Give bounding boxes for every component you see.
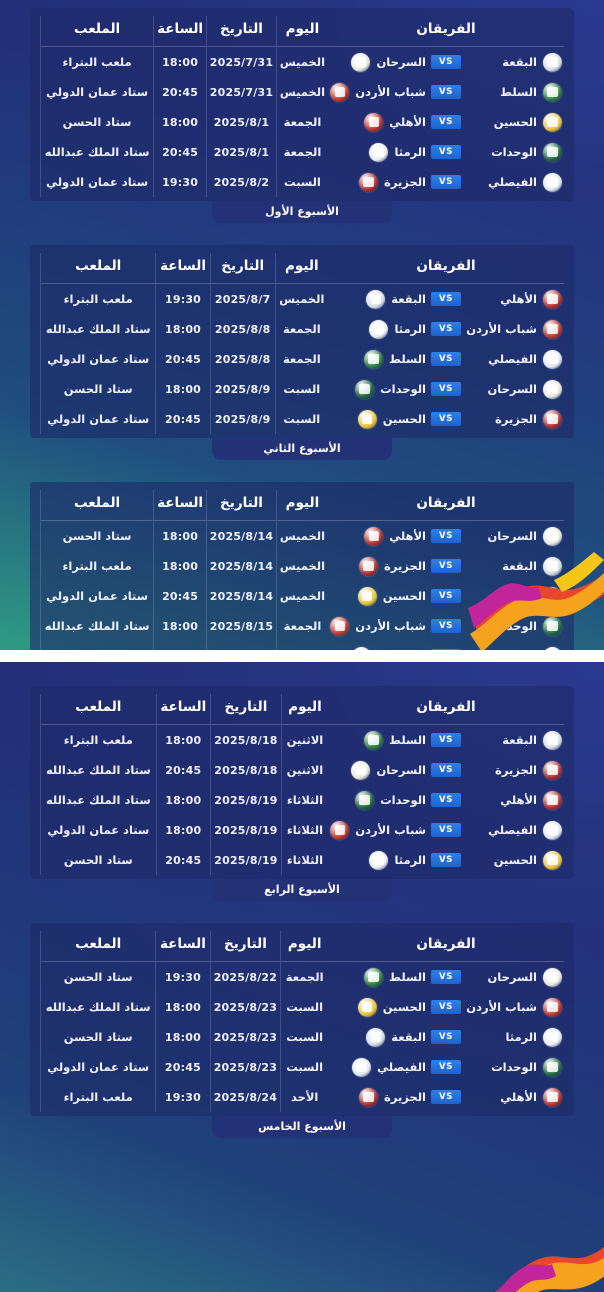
home-team-name: شباب الأردن — [466, 322, 537, 336]
match-cell[interactable]: السلطVSالحسين — [328, 581, 564, 611]
home-team[interactable]: الحسين — [466, 851, 562, 870]
home-team-name: الأهلي — [500, 793, 537, 807]
vs-badge: VS — [431, 1060, 461, 1074]
match-date-cell: 2025/8/19 — [210, 845, 281, 875]
vs-badge: VS — [431, 1090, 461, 1104]
table-row[interactable]: الفيصليVSالجزيرةالسبت2025/8/219:30ستاد ع… — [41, 167, 565, 197]
match-stadium-cell: ستاد الملك عبدالله — [41, 611, 154, 641]
team-crest-icon — [330, 617, 349, 636]
match-time-cell: 19:30 — [156, 1082, 210, 1112]
away-team-name: شباب الأردن — [355, 823, 426, 837]
match-stadium-cell: ستاد عمان الدولي — [41, 815, 157, 845]
table-row[interactable]: شباب الأردنVSالرمثاالجمعة2025/8/818:00ست… — [41, 314, 565, 344]
vs-badge: VS — [431, 619, 461, 633]
home-team-name: الأهلي — [500, 292, 537, 306]
match-cell[interactable]: السلطVSشباب الأردن — [328, 77, 564, 107]
team-crest-icon — [543, 320, 562, 339]
column-header-time: الساعة — [154, 490, 207, 521]
away-team[interactable]: الحسين — [330, 998, 426, 1017]
match-cell[interactable]: البقعةVSالجزيرة — [328, 551, 564, 581]
home-team[interactable]: الأهلي — [466, 791, 562, 810]
away-team-name: الوحدات — [380, 382, 426, 396]
match-pairing: الحسينVSالرمثا — [330, 851, 562, 870]
column-header-teams: الفريقان — [328, 253, 564, 284]
match-day-cell: الاثنين — [281, 725, 328, 756]
away-team-name: الوحدات — [380, 793, 426, 807]
match-date-cell: 2025/8/14 — [207, 551, 277, 581]
match-pairing: السرحانVSالسلط — [330, 968, 562, 987]
match-stadium-cell: ملعب البتراء — [41, 551, 154, 581]
match-pairing: الجزيرةVSالحسين — [330, 410, 562, 429]
match-pairing: السرحانVSالأهلي — [330, 527, 562, 546]
match-cell[interactable]: الأهليVSالجزيرة — [328, 1082, 564, 1112]
away-team[interactable]: الرمثا — [330, 320, 426, 339]
match-time-cell: 20:45 — [154, 581, 207, 611]
match-day-cell: السبت — [276, 167, 328, 197]
match-stadium-cell: ملعب البتراء — [41, 47, 154, 78]
table-row[interactable]: الحسينVSالرمثاالثلاثاء2025/8/1920:45ستاد… — [41, 845, 565, 875]
match-pairing: الفيصليVSالسلط — [330, 350, 562, 369]
week-label: الأسبوع الرابع — [212, 879, 392, 901]
away-team-name: البقعة — [391, 1030, 426, 1044]
away-team[interactable]: الوحدات — [330, 380, 426, 399]
table-header-row: الفريقاناليومالتاريخالساعةالملعب — [41, 931, 565, 962]
away-team-name: الجزيرة — [384, 559, 426, 573]
match-stadium-cell: ستاد الملك عبدالله — [41, 314, 156, 344]
match-date-cell: 2025/8/23 — [210, 992, 281, 1022]
match-day-cell: الثلاثاء — [281, 845, 328, 875]
match-day-cell: الأحد — [281, 1082, 328, 1112]
match-day-cell: السبت — [275, 404, 328, 434]
away-team[interactable]: الحسين — [330, 410, 426, 429]
match-pairing: الفيصليVSالجزيرة — [330, 173, 562, 192]
team-crest-icon — [543, 851, 562, 870]
team-crest-icon — [364, 113, 383, 132]
home-team[interactable]: السلط — [466, 83, 562, 102]
away-team[interactable]: الفيصلي — [330, 1058, 426, 1077]
team-crest-icon — [543, 350, 562, 369]
away-team[interactable]: الفيصلي — [330, 647, 426, 651]
table-row[interactable]: الأهليVSالبقعةالخميس2025/8/719:30ملعب ال… — [41, 284, 565, 315]
away-team-name: الفيصلي — [377, 649, 426, 650]
team-crest-icon — [358, 587, 377, 606]
away-team[interactable]: الجزيرة — [330, 557, 426, 576]
match-pairing: شباب الأردنVSالرمثا — [330, 320, 562, 339]
away-team[interactable]: البقعة — [330, 290, 426, 309]
home-team[interactable]: السلط — [466, 587, 562, 606]
match-time-cell: 20:45 — [154, 137, 207, 167]
week-block: الفريقاناليومالتاريخالساعةالملعبالبقعةVS… — [0, 686, 604, 901]
team-crest-icon — [351, 53, 370, 72]
match-time-cell: 18:00 — [156, 314, 210, 344]
team-crest-icon — [364, 731, 383, 750]
team-crest-icon — [543, 998, 562, 1017]
column-header-stadium: الملعب — [41, 490, 154, 521]
home-team[interactable]: السرحان — [466, 527, 562, 546]
vs-badge: VS — [431, 322, 461, 336]
team-crest-icon — [352, 647, 371, 651]
home-team[interactable]: الفيصلي — [466, 821, 562, 840]
match-cell[interactable]: شباب الأردنVSالحسين — [328, 992, 564, 1022]
match-cell[interactable]: الوحداتVSالفيصلي — [328, 1052, 564, 1082]
vs-badge: VS — [431, 1000, 461, 1014]
team-crest-icon — [364, 527, 383, 546]
table-row[interactable]: السرحانVSالسلطالجمعة2025/8/2219:30ستاد ا… — [41, 962, 565, 993]
team-crest-icon — [330, 83, 349, 102]
match-date-cell: 2025/7/31 — [207, 77, 277, 107]
match-date-cell: 2025/7/31 — [207, 47, 277, 78]
week-card: الفريقاناليومالتاريخالساعةالملعبالبقعةVS… — [30, 686, 574, 879]
home-team[interactable]: الوحدات — [466, 143, 562, 162]
away-team-name: الحسين — [383, 412, 426, 426]
week-block: الفريقاناليومالتاريخالساعةالملعبالسرحانV… — [0, 482, 604, 650]
match-date-cell: 2025/8/19 — [210, 785, 281, 815]
away-team[interactable]: البقعة — [330, 1028, 426, 1047]
match-cell[interactable]: الحسينVSالرمثا — [328, 845, 564, 875]
away-team[interactable]: الأهلي — [330, 113, 426, 132]
home-team-name: الرمثا — [505, 649, 537, 650]
team-crest-icon — [351, 761, 370, 780]
home-team-name: السرحان — [487, 382, 537, 396]
table-row[interactable]: السلطVSالحسينالخميس2025/8/1420:45ستاد عم… — [41, 581, 565, 611]
table-row[interactable]: البقعةVSالسرحانالخميس2025/7/3118:00ملعب … — [41, 47, 565, 78]
table-row[interactable]: الأهليVSالوحداتالثلاثاء2025/8/1918:00ستا… — [41, 785, 565, 815]
column-header-stadium: الملعب — [41, 931, 156, 962]
team-crest-icon — [355, 380, 374, 399]
team-crest-icon — [366, 290, 385, 309]
team-crest-icon — [543, 290, 562, 309]
team-crest-icon — [369, 143, 388, 162]
away-team-name: السلط — [389, 733, 426, 747]
home-team-name: الفيصلي — [488, 175, 537, 189]
match-day-cell: الجمعة — [276, 107, 328, 137]
column-header-date: التاريخ — [207, 490, 277, 521]
home-team-name: البقعة — [502, 733, 537, 747]
vs-badge: VS — [431, 763, 461, 777]
table-row[interactable]: السرحانVSالوحداتالسبت2025/8/918:00ستاد ا… — [41, 374, 565, 404]
away-team-name: السلط — [389, 970, 426, 984]
match-cell[interactable]: الفيصليVSشباب الأردن — [328, 815, 564, 845]
away-team-name: شباب الأردن — [355, 619, 426, 633]
match-time-cell: 18:00 — [156, 785, 210, 815]
match-stadium-cell: ستاد الحسن — [41, 374, 156, 404]
vs-badge: VS — [431, 175, 461, 189]
match-stadium-cell: ستاد الملك عبدالله — [41, 755, 157, 785]
home-team[interactable]: الجزيرة — [466, 410, 562, 429]
column-header-day: اليوم — [276, 490, 328, 521]
home-team-name: الحسين — [494, 115, 537, 129]
match-stadium-cell: ستاد عمان الدولي — [41, 404, 156, 434]
table-row[interactable]: الرمثاVSالفيصليالجمعة2025/8/1520:45ستاد … — [41, 641, 565, 650]
match-stadium-cell: ملعب البتراء — [41, 284, 156, 315]
away-team-name: الأهلي — [389, 529, 426, 543]
week-card: الفريقاناليومالتاريخالساعةالملعبالسرحانV… — [30, 482, 574, 650]
match-date-cell: 2025/8/23 — [210, 1022, 281, 1052]
away-team-name: الجزيرة — [384, 175, 426, 189]
column-header-date: التاريخ — [207, 16, 277, 47]
team-crest-icon — [543, 83, 562, 102]
match-pairing: شباب الأردنVSالحسين — [330, 998, 562, 1017]
away-team[interactable]: السرحان — [330, 761, 426, 780]
match-stadium-cell: ستاد الحسن — [41, 641, 154, 650]
away-team-name: الرمثا — [394, 322, 426, 336]
vs-badge: VS — [431, 529, 461, 543]
match-time-cell: 19:30 — [156, 962, 210, 993]
team-crest-icon — [330, 821, 349, 840]
away-team-name: شباب الأردن — [355, 85, 426, 99]
match-pairing: السلطVSشباب الأردن — [330, 83, 562, 102]
match-date-cell: 2025/8/15 — [207, 611, 277, 641]
team-crest-icon — [543, 173, 562, 192]
table-row[interactable]: الفيصليVSشباب الأردنالثلاثاء2025/8/1918:… — [41, 815, 565, 845]
home-team[interactable]: الفيصلي — [466, 173, 562, 192]
match-cell[interactable]: الأهليVSالوحدات — [328, 785, 564, 815]
team-crest-icon — [543, 968, 562, 987]
column-header-date: التاريخ — [210, 253, 275, 284]
match-day-cell: السبت — [275, 374, 328, 404]
away-team[interactable]: الجزيرة — [330, 173, 426, 192]
table-row[interactable]: الجزيرةVSالسرحانالاثنين2025/8/1820:45ستا… — [41, 755, 565, 785]
match-day-cell: السبت — [281, 992, 328, 1022]
match-date-cell: 2025/8/9 — [210, 404, 275, 434]
column-header-day: اليوم — [276, 16, 328, 47]
match-pairing: الأهليVSالبقعة — [330, 290, 562, 309]
home-team-name: السلط — [500, 589, 537, 603]
match-stadium-cell: ستاد الملك عبدالله — [41, 785, 157, 815]
match-time-cell: 20:45 — [154, 641, 207, 650]
match-day-cell: الجمعة — [275, 344, 328, 374]
match-stadium-cell: ستاد الحسن — [41, 1022, 156, 1052]
away-team[interactable]: الرمثا — [330, 143, 426, 162]
team-crest-icon — [359, 173, 378, 192]
away-team[interactable]: السلط — [330, 968, 426, 987]
table-row[interactable]: الوحداتVSالرمثاالجمعة2025/8/120:45ستاد ا… — [41, 137, 565, 167]
match-day-cell: الخميس — [276, 551, 328, 581]
home-team[interactable]: الرمثا — [466, 1028, 562, 1047]
table-row[interactable]: السلطVSشباب الأردنالخميس2025/7/3120:45ست… — [41, 77, 565, 107]
home-team-name: الجزيرة — [495, 763, 537, 777]
away-team-name: الرمثا — [394, 145, 426, 159]
match-time-cell: 18:00 — [154, 107, 207, 137]
match-date-cell: 2025/8/15 — [207, 641, 277, 650]
table-row[interactable]: الرمثاVSالبقعةالسبت2025/8/2318:00ستاد ال… — [41, 1022, 565, 1052]
match-time-cell: 19:30 — [156, 284, 210, 315]
column-header-teams: الفريقان — [328, 694, 564, 725]
away-team-name: الجزيرة — [384, 1090, 426, 1104]
home-team[interactable]: الجزيرة — [466, 761, 562, 780]
table-row[interactable]: شباب الأردنVSالحسينالسبت2025/8/2318:00ست… — [41, 992, 565, 1022]
vs-badge: VS — [431, 382, 461, 396]
match-stadium-cell: ستاد الحسن — [41, 962, 156, 993]
away-team[interactable]: الحسين — [330, 587, 426, 606]
match-cell[interactable]: الفيصليVSالسلط — [328, 344, 564, 374]
column-header-day: اليوم — [281, 694, 328, 725]
home-team[interactable]: البقعة — [466, 557, 562, 576]
fixtures-table: الفريقاناليومالتاريخالساعةالملعبالأهليVS… — [40, 253, 564, 434]
table-header-row: الفريقاناليومالتاريخالساعةالملعب — [41, 16, 565, 47]
match-pairing: الرمثاVSالبقعة — [330, 1028, 562, 1047]
match-stadium-cell: ستاد الحسن — [41, 521, 154, 552]
match-day-cell: الجمعة — [276, 641, 328, 650]
table-row[interactable]: البقعةVSالسلطالاثنين2025/8/1818:00ملعب ا… — [41, 725, 565, 756]
vs-badge: VS — [431, 145, 461, 159]
team-crest-icon — [352, 1058, 371, 1077]
match-stadium-cell: ستاد عمان الدولي — [41, 344, 156, 374]
vs-badge: VS — [431, 412, 461, 426]
match-cell[interactable]: البقعةVSالسرحان — [328, 47, 564, 78]
team-crest-icon — [543, 1028, 562, 1047]
table-header-row: الفريقاناليومالتاريخالساعةالملعب — [41, 253, 565, 284]
table-row[interactable]: الوحداتVSالفيصليالسبت2025/8/2320:45ستاد … — [41, 1052, 565, 1082]
team-crest-icon — [355, 791, 374, 810]
match-day-cell: الخميس — [276, 581, 328, 611]
match-day-cell: الخميس — [276, 47, 328, 78]
away-team[interactable]: الوحدات — [330, 791, 426, 810]
away-team[interactable]: شباب الأردن — [330, 617, 426, 636]
column-header-day: اليوم — [281, 931, 328, 962]
home-team-name: الرمثا — [505, 1030, 537, 1044]
home-team-name: الجزيرة — [495, 412, 537, 426]
vs-badge: VS — [431, 793, 461, 807]
match-cell[interactable]: شباب الأردنVSالرمثا — [328, 314, 564, 344]
table-row[interactable]: الأهليVSالجزيرةالأحد2025/8/2419:30ملعب ا… — [41, 1082, 565, 1112]
home-team-name: الوحدات — [491, 1060, 537, 1074]
table-header-row: الفريقاناليومالتاريخالساعةالملعب — [41, 490, 565, 521]
home-team[interactable]: شباب الأردن — [466, 998, 562, 1017]
match-cell[interactable]: البقعةVSالسلط — [328, 725, 564, 756]
match-cell[interactable]: الوحداتVSشباب الأردن — [328, 611, 564, 641]
home-team[interactable]: الأهلي — [466, 290, 562, 309]
schedule-page: الفريقاناليومالتاريخالساعةالملعبالبقعةVS… — [0, 0, 604, 1292]
match-time-cell: 18:00 — [154, 551, 207, 581]
team-crest-icon — [358, 998, 377, 1017]
table-row[interactable]: الجزيرةVSالحسينالسبت2025/8/920:45ستاد عم… — [41, 404, 565, 434]
home-team[interactable]: الفيصلي — [466, 350, 562, 369]
table-row[interactable]: الفيصليVSالسلطالجمعة2025/8/820:45ستاد عم… — [41, 344, 565, 374]
match-time-cell: 20:45 — [156, 845, 210, 875]
home-team-name: الوحدات — [491, 145, 537, 159]
home-team[interactable]: السرحان — [466, 968, 562, 987]
schedule-poster-2: الفريقاناليومالتاريخالساعةالملعبالبقعةVS… — [0, 662, 604, 1292]
vs-badge: VS — [431, 352, 461, 366]
away-team-name: السرحان — [376, 763, 426, 777]
match-cell[interactable]: الوحداتVSالرمثا — [328, 137, 564, 167]
week-label: الأسبوع الخامس — [212, 1116, 392, 1138]
match-day-cell: الثلاثاء — [281, 785, 328, 815]
column-header-time: الساعة — [154, 16, 207, 47]
match-stadium-cell: ملعب البتراء — [41, 725, 157, 756]
match-time-cell: 18:00 — [156, 1022, 210, 1052]
away-team-name: الأهلي — [389, 115, 426, 129]
match-cell[interactable]: الفيصليVSالجزيرة — [328, 167, 564, 197]
home-team[interactable]: البقعة — [466, 731, 562, 750]
match-cell[interactable]: السرحانVSالأهلي — [328, 521, 564, 552]
away-team[interactable]: شباب الأردن — [330, 83, 426, 102]
match-day-cell: الاثنين — [281, 755, 328, 785]
week-block: الفريقاناليومالتاريخالساعةالملعبالسرحانV… — [0, 923, 604, 1138]
table-row[interactable]: السرحانVSالأهليالخميس2025/8/1418:00ستاد … — [41, 521, 565, 552]
match-stadium-cell: ستاد الحسن — [41, 107, 154, 137]
vs-badge: VS — [431, 115, 461, 129]
match-cell[interactable]: الرمثاVSالفيصلي — [328, 641, 564, 650]
week-block: الفريقاناليومالتاريخالساعةالملعبالأهليVS… — [0, 245, 604, 460]
match-pairing: الحسينVSالأهلي — [330, 113, 562, 132]
match-stadium-cell: ملعب البتراء — [41, 1082, 156, 1112]
away-team[interactable]: الجزيرة — [330, 1088, 426, 1107]
home-team[interactable]: الحسين — [466, 113, 562, 132]
table-row[interactable]: الحسينVSالأهليالجمعة2025/8/118:00ستاد ال… — [41, 107, 565, 137]
match-day-cell: الجمعة — [281, 962, 328, 993]
home-team-name: الوحدات — [491, 619, 537, 633]
match-day-cell: الثلاثاء — [281, 815, 328, 845]
match-pairing: الأهليVSالجزيرة — [330, 1088, 562, 1107]
vs-badge: VS — [431, 853, 461, 867]
match-cell[interactable]: الحسينVSالأهلي — [328, 107, 564, 137]
team-crest-icon — [543, 527, 562, 546]
home-team-name: شباب الأردن — [466, 1000, 537, 1014]
match-cell[interactable]: الجزيرةVSالسرحان — [328, 755, 564, 785]
home-team-name: الفيصلي — [488, 823, 537, 837]
away-team[interactable]: الرمثا — [330, 851, 426, 870]
match-pairing: البقعةVSالسرحان — [330, 53, 562, 72]
match-date-cell: 2025/8/18 — [210, 725, 281, 756]
poster-2-content: الفريقاناليومالتاريخالساعةالملعبالبقعةVS… — [0, 662, 604, 1292]
match-stadium-cell: ستاد عمان الدولي — [41, 581, 154, 611]
away-team[interactable]: الأهلي — [330, 527, 426, 546]
match-cell[interactable]: الرمثاVSالبقعة — [328, 1022, 564, 1052]
home-team[interactable]: السرحان — [466, 380, 562, 399]
match-time-cell: 20:45 — [156, 755, 210, 785]
match-pairing: الأهليVSالوحدات — [330, 791, 562, 810]
match-pairing: الوحداتVSالرمثا — [330, 143, 562, 162]
match-time-cell: 18:00 — [156, 374, 210, 404]
team-crest-icon — [358, 410, 377, 429]
home-team[interactable]: الرمثا — [466, 647, 562, 651]
vs-badge: VS — [431, 292, 461, 306]
week-block: الفريقاناليومالتاريخالساعةالملعبالبقعةVS… — [0, 8, 604, 223]
match-cell[interactable]: الجزيرةVSالحسين — [328, 404, 564, 434]
match-cell[interactable]: السرحانVSالوحدات — [328, 374, 564, 404]
team-crest-icon — [543, 53, 562, 72]
table-row[interactable]: الوحداتVSشباب الأردنالجمعة2025/8/1518:00… — [41, 611, 565, 641]
away-team[interactable]: السرحان — [330, 53, 426, 72]
team-crest-icon — [543, 761, 562, 780]
match-time-cell: 18:00 — [156, 815, 210, 845]
home-team-name: الأهلي — [500, 1090, 537, 1104]
match-cell[interactable]: الأهليVSالبقعة — [328, 284, 564, 315]
column-header-teams: الفريقان — [328, 16, 564, 47]
home-team[interactable]: الوحدات — [466, 617, 562, 636]
home-team[interactable]: الأهلي — [466, 1088, 562, 1107]
team-crest-icon — [543, 410, 562, 429]
home-team[interactable]: الوحدات — [466, 1058, 562, 1077]
team-crest-icon — [543, 380, 562, 399]
match-time-cell: 18:00 — [154, 47, 207, 78]
away-team[interactable]: السلط — [330, 731, 426, 750]
team-crest-icon — [369, 320, 388, 339]
match-day-cell: الجمعة — [276, 137, 328, 167]
table-row[interactable]: البقعةVSالجزيرةالخميس2025/8/1418:00ملعب … — [41, 551, 565, 581]
match-date-cell: 2025/8/7 — [210, 284, 275, 315]
match-cell[interactable]: السرحانVSالسلط — [328, 962, 564, 993]
match-date-cell: 2025/8/23 — [210, 1052, 281, 1082]
away-team[interactable]: شباب الأردن — [330, 821, 426, 840]
team-crest-icon — [543, 821, 562, 840]
column-header-stadium: الملعب — [41, 253, 156, 284]
away-team[interactable]: السلط — [330, 350, 426, 369]
home-team[interactable]: شباب الأردن — [466, 320, 562, 339]
home-team[interactable]: البقعة — [466, 53, 562, 72]
